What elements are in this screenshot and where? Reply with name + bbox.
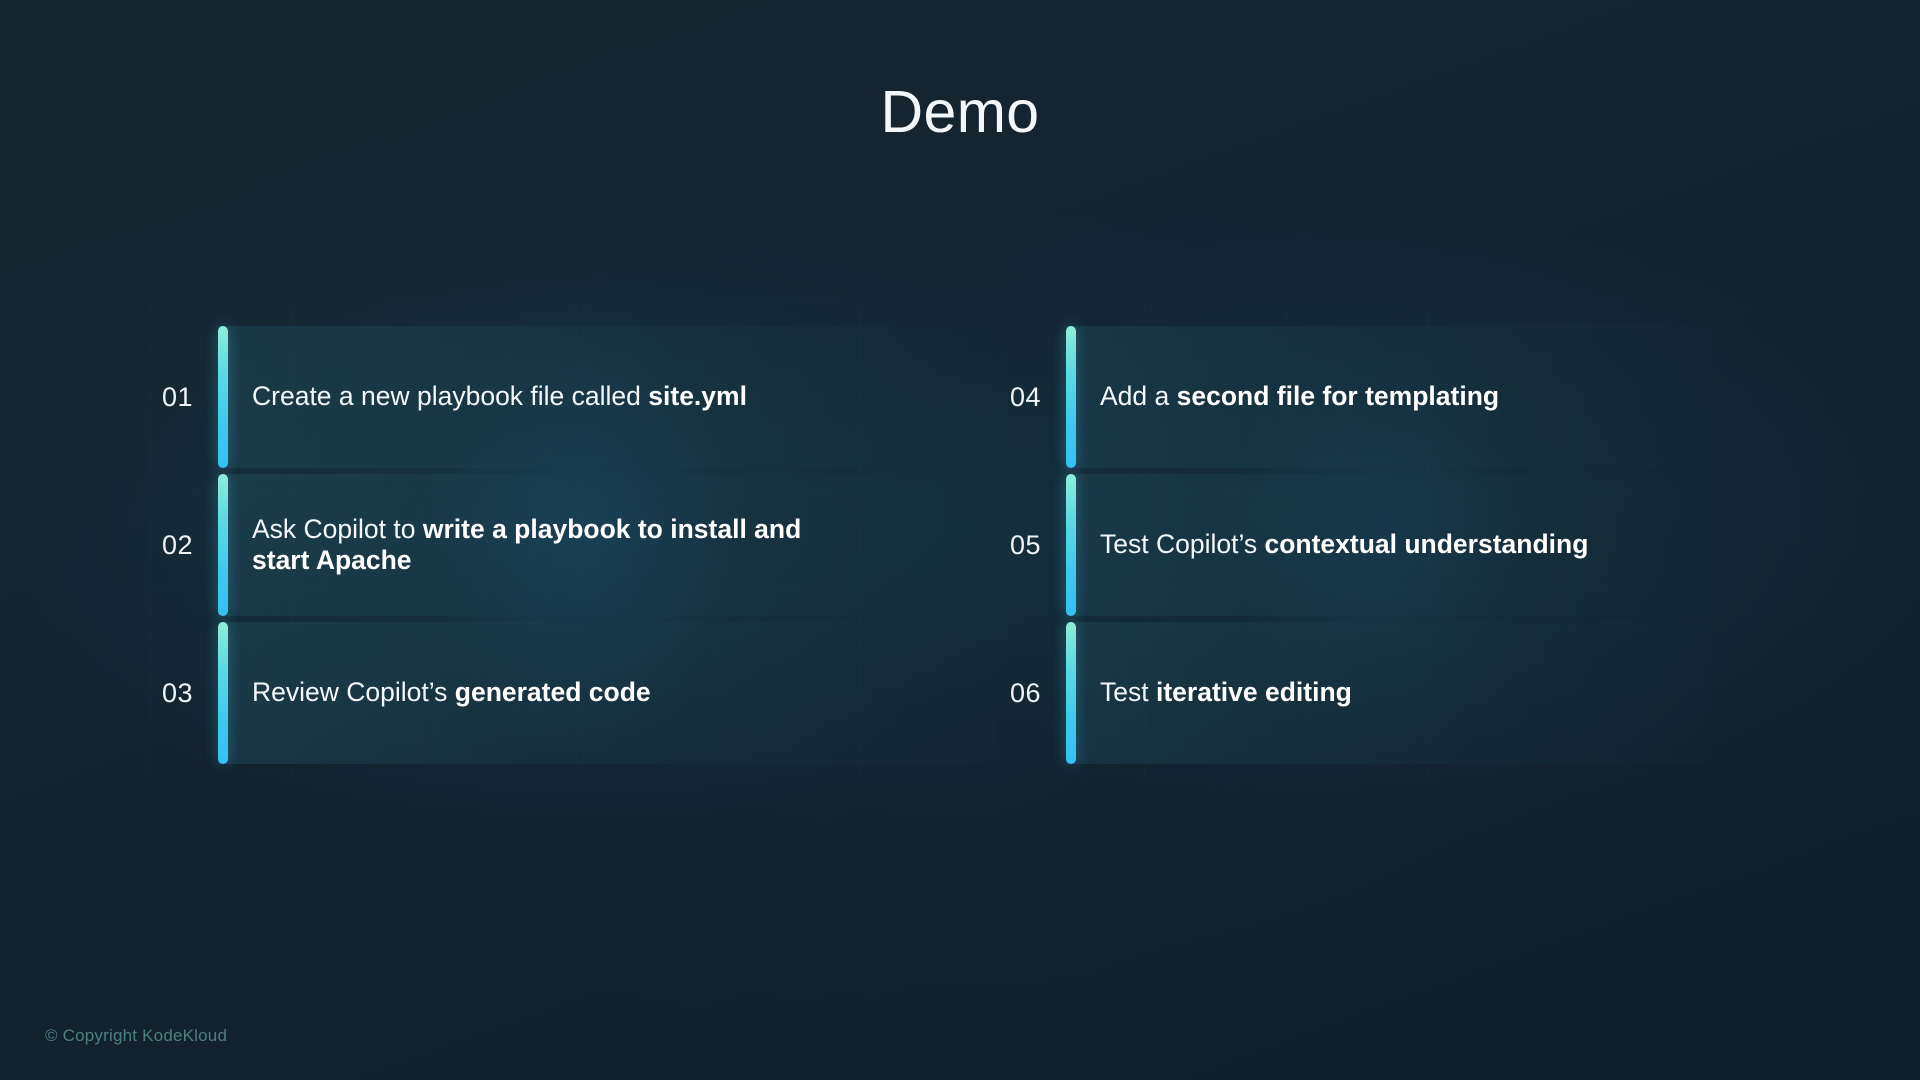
slide-root: Demo 01 Create a new playbook file calle… [0,0,1920,1080]
step-number-05: 05 [998,530,1066,561]
step-item-04: 04 Add a second file for templating [998,323,1710,471]
footer-copyright: © Copyright KodeKloud [45,1026,227,1046]
step-text-02: Ask Copilot to write a playbook to insta… [218,514,838,577]
step-text-plain-05: Test Copilot’s [1100,529,1264,559]
step-panel-01: Create a new playbook file called site.y… [218,326,998,468]
step-text-plain-04: Add a [1100,381,1177,411]
step-text-bold-06: iterative editing [1156,677,1352,707]
step-text-04: Add a second file for templating [1066,381,1523,412]
step-number-03: 03 [150,678,218,709]
step-item-05: 05 Test Copilot’s contextual understandi… [998,471,1710,619]
step-text-plain-02: Ask Copilot to [252,514,423,544]
step-item-01: 01 Create a new playbook file called sit… [150,323,998,471]
accent-bar-icon-01 [218,326,228,468]
step-text-bold-04: second file for templating [1177,381,1499,411]
step-item-02: 02 Ask Copilot to write a playbook to in… [150,471,998,619]
accent-bar-icon-06 [1066,622,1076,764]
accent-bar-icon-05 [1066,474,1076,616]
accent-bar-icon-03 [218,622,228,764]
step-text-bold-05: contextual understanding [1264,529,1588,559]
step-text-plain-03: Review Copilot’s [252,677,455,707]
step-panel-06: Test iterative editing [1066,622,1710,764]
step-number-04: 04 [998,382,1066,413]
step-text-05: Test Copilot’s contextual understanding [1066,529,1612,560]
accent-bar-icon-04 [1066,326,1076,468]
step-text-bold-03: generated code [455,677,651,707]
accent-bar-icon-02 [218,474,228,616]
page-title: Demo [0,78,1920,146]
step-text-plain-06: Test [1100,677,1156,707]
step-panel-03: Review Copilot’s generated code [218,622,998,764]
step-text-bold-01: site.yml [648,381,747,411]
step-panel-04: Add a second file for templating [1066,326,1710,468]
step-number-02: 02 [150,530,218,561]
step-text-03: Review Copilot’s generated code [218,677,675,708]
step-text-06: Test iterative editing [1066,677,1376,708]
steps-grid: 01 Create a new playbook file called sit… [150,323,1710,767]
step-number-01: 01 [150,382,218,413]
step-text-01: Create a new playbook file called site.y… [218,381,771,412]
step-panel-05: Test Copilot’s contextual understanding [1066,474,1710,616]
step-text-plain-01: Create a new playbook file called [252,381,648,411]
step-item-06: 06 Test iterative editing [998,619,1710,767]
step-number-06: 06 [998,678,1066,709]
step-panel-02: Ask Copilot to write a playbook to insta… [218,474,998,616]
step-item-03: 03 Review Copilot’s generated code [150,619,998,767]
